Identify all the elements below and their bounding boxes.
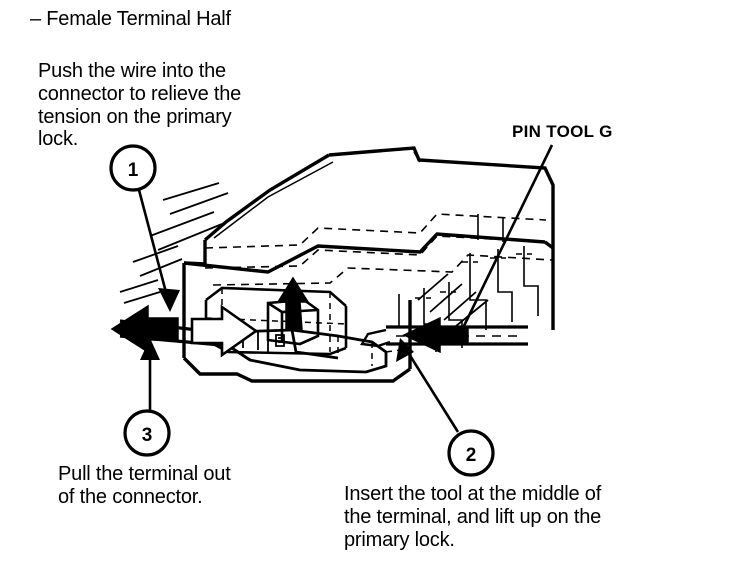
wire-push-right-arrow <box>192 307 256 355</box>
callout-number-3: 3 <box>142 425 153 446</box>
figure-page: – Female Terminal Half Push the wire int… <box>0 0 752 576</box>
housing-right-face-hidden <box>415 254 532 298</box>
leader-arrowhead-step-1 <box>158 288 180 312</box>
leader-line-step-1 <box>139 190 168 300</box>
callout-marker-2: 2 <box>449 431 493 475</box>
leader-line-step-2 <box>404 346 458 432</box>
housing-surface-hatching <box>120 183 228 303</box>
callout-number-1: 1 <box>128 160 139 181</box>
connector-line-drawing: 1 3 2 <box>0 0 752 576</box>
upper-housing-fold-lines <box>214 152 420 238</box>
female-terminal-body <box>232 330 386 372</box>
callout-marker-3: 3 <box>125 411 169 455</box>
callout-marker-1: 1 <box>111 146 155 190</box>
wire-pull-left-arrow <box>112 306 178 352</box>
callout-number-2: 2 <box>466 445 477 466</box>
